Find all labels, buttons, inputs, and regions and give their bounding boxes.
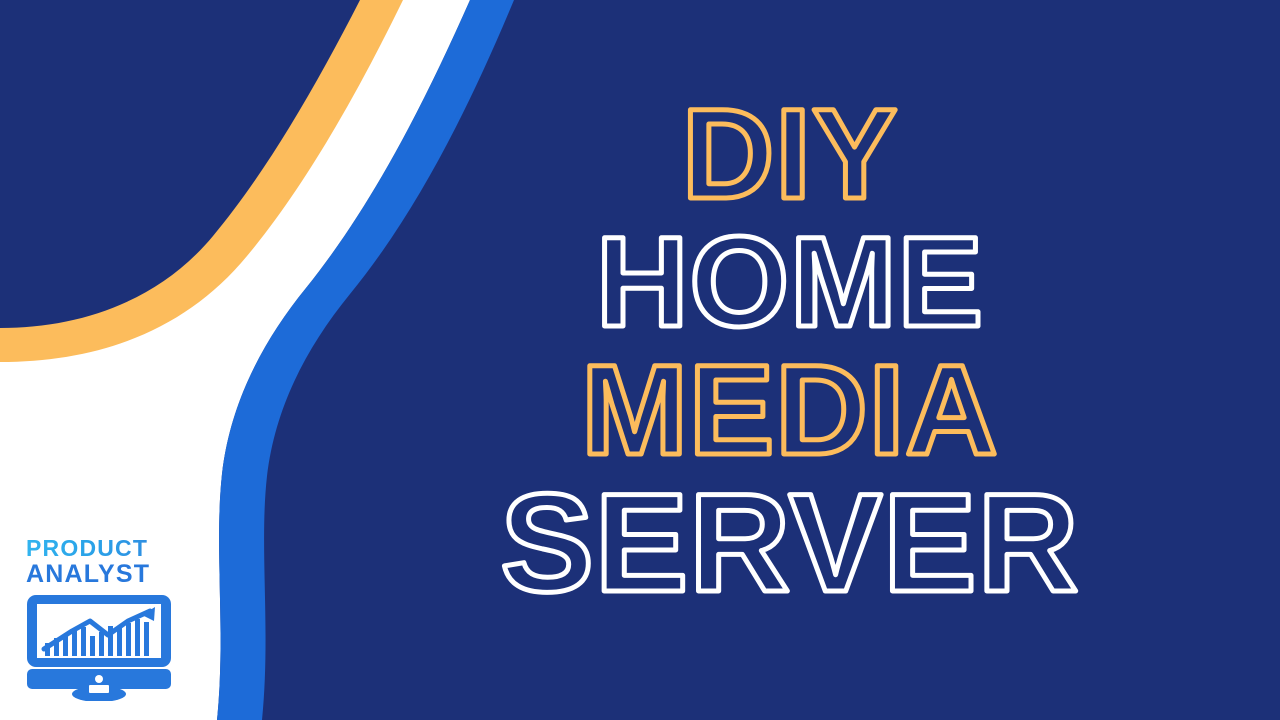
brand-logo: PRODUCT ANALYST bbox=[24, 534, 189, 704]
brand-line-1-text: PRODUCT bbox=[26, 535, 148, 561]
brand-wordmark: PRODUCT ANALYST bbox=[24, 534, 174, 592]
thumbnail-canvas: DIY HOME MEDIA SERVER PRODUCT ANALYST bbox=[0, 0, 1280, 720]
monitor-power-dot bbox=[95, 675, 103, 683]
brand-line-2-text: ANALYST bbox=[26, 560, 150, 588]
background-decoration bbox=[0, 0, 1280, 720]
monitor-neck-inner bbox=[89, 685, 109, 693]
monitor-bar-chart-icon bbox=[24, 593, 174, 701]
